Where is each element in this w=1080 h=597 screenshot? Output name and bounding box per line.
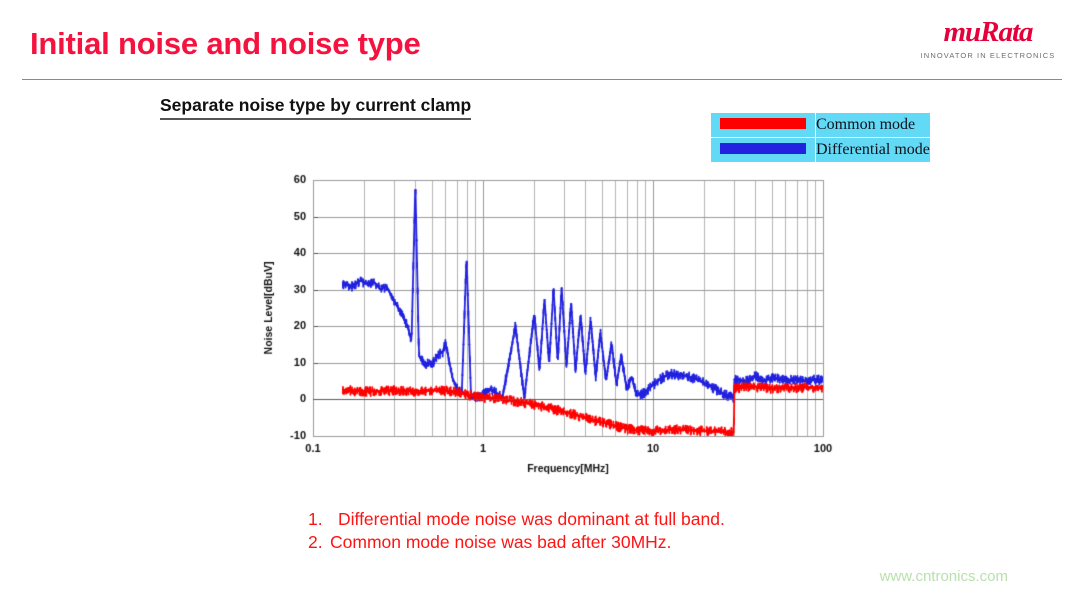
list-item-number: 2. bbox=[308, 531, 330, 554]
legend-row-differential-mode: Differential mode bbox=[711, 138, 931, 163]
legend-swatch-cell-common-mode bbox=[711, 113, 816, 138]
legend-swatch-differential-mode bbox=[720, 143, 806, 154]
logo-tagline: INNOVATOR IN ELECTRONICS bbox=[918, 51, 1058, 60]
noise-spectrum-chart bbox=[255, 170, 835, 490]
legend-row-common-mode: Common mode bbox=[711, 113, 931, 138]
page-title: Initial noise and noise type bbox=[30, 26, 421, 62]
section-heading: Separate noise type by current clamp bbox=[160, 95, 471, 120]
chart-canvas bbox=[255, 170, 835, 490]
list-item-number: 1. bbox=[308, 508, 338, 531]
list-item: 1.Differential mode noise was dominant a… bbox=[308, 508, 725, 531]
list-item-text: Differential mode noise was dominant at … bbox=[338, 508, 725, 531]
conclusions-list: 1.Differential mode noise was dominant a… bbox=[308, 508, 725, 554]
legend-swatch-common-mode bbox=[720, 118, 806, 129]
legend-label-differential-mode: Differential mode bbox=[816, 138, 931, 163]
list-item: 2.Common mode noise was bad after 30MHz. bbox=[308, 531, 725, 554]
murata-logo: muRata INNOVATOR IN ELECTRONICS bbox=[918, 18, 1058, 60]
header-divider bbox=[22, 79, 1062, 80]
logo-wordmark: muRata bbox=[918, 18, 1058, 47]
chart-legend: Common mode Differential mode bbox=[710, 112, 931, 163]
legend-swatch-cell-differential-mode bbox=[711, 138, 816, 163]
site-watermark: www.cntronics.com bbox=[880, 568, 1008, 585]
legend-label-common-mode: Common mode bbox=[816, 113, 931, 138]
list-item-text: Common mode noise was bad after 30MHz. bbox=[330, 531, 671, 554]
